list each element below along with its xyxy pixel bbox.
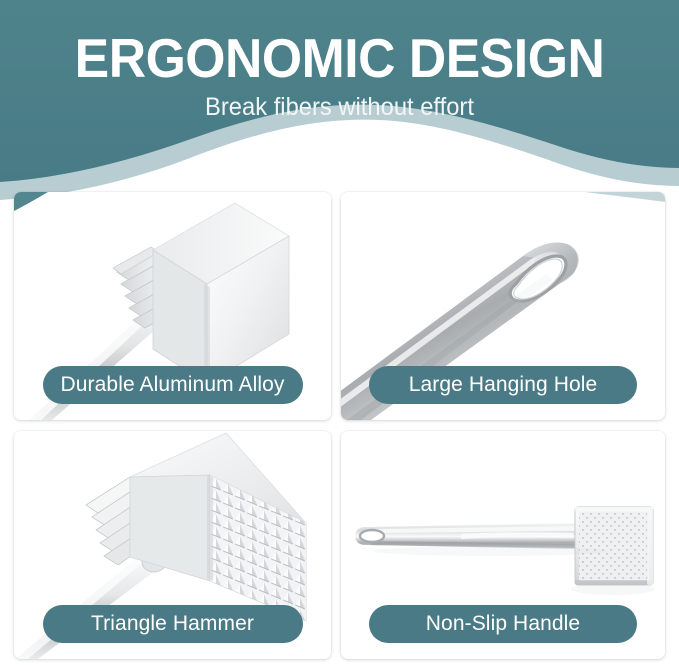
tenderizer-head (575, 507, 653, 585)
card-label-large-hanging-hole: Large Hanging Hole (369, 366, 637, 404)
feature-card-triangle-hammer[interactable]: Triangle Hammer (14, 431, 331, 659)
header-text-group: ERGONOMIC DESIGN Break fibers without ef… (0, 0, 679, 122)
card-label-triangle-hammer: Triangle Hammer (43, 605, 303, 643)
card-label-non-slip-handle: Non-Slip Handle (369, 605, 637, 643)
card-label-durable-aluminum-alloy: Durable Aluminum Alloy (43, 366, 303, 404)
feature-card-large-hanging-hole[interactable]: Large Hanging Hole (341, 192, 665, 420)
page-subtitle: Break fibers without effort (17, 88, 662, 122)
header-banner: ERGONOMIC DESIGN Break fibers without ef… (0, 0, 679, 200)
feature-card-non-slip-handle[interactable]: Non-Slip Handle (341, 431, 665, 659)
feature-card-durable-aluminum-alloy[interactable]: Durable Aluminum Alloy (14, 192, 331, 420)
page-title: ERGONOMIC DESIGN (20, 0, 658, 88)
hanging-hole (360, 530, 384, 542)
non-slip-handle (355, 523, 577, 549)
feature-card-grid: Durable Aluminum Alloy (0, 186, 679, 665)
